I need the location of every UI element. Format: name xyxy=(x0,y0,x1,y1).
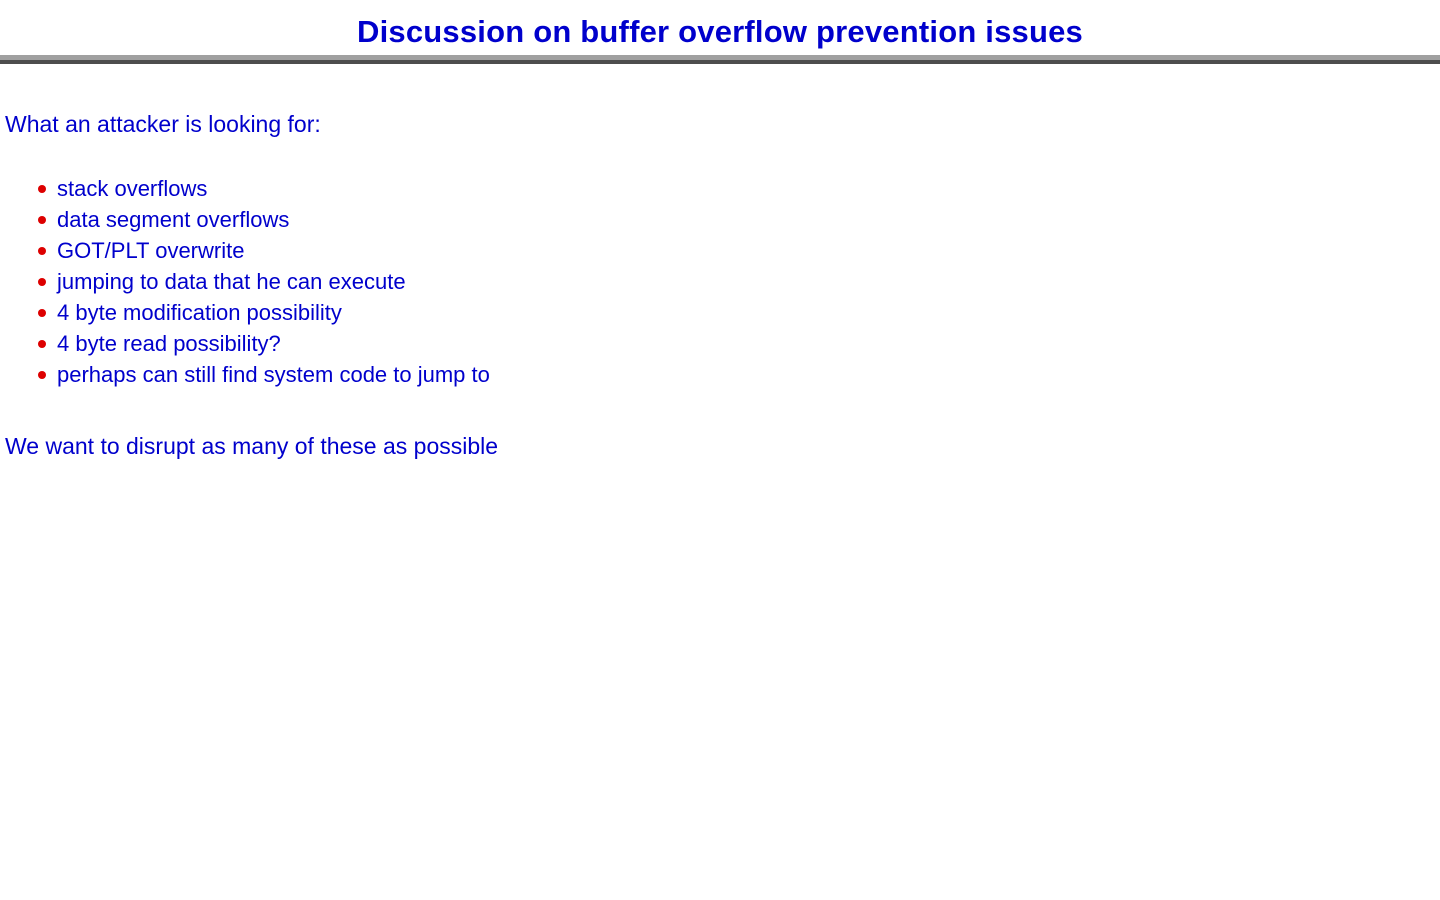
bullet-dot-icon xyxy=(38,309,46,317)
list-item-label: 4 byte read possibility? xyxy=(57,331,281,356)
list-item-label: data segment overflows xyxy=(57,207,289,232)
list-item-label: stack overflows xyxy=(57,176,207,201)
list-item: GOT/PLT overwrite xyxy=(0,235,490,266)
bullet-dot-icon xyxy=(38,278,46,286)
list-item-label: jumping to data that he can execute xyxy=(57,269,406,294)
title-divider xyxy=(0,55,1440,64)
bullet-dot-icon xyxy=(38,216,46,224)
bullet-dot-icon xyxy=(38,371,46,379)
closing-paragraph: We want to disrupt as many of these as p… xyxy=(5,432,498,460)
lead-paragraph: What an attacker is looking for: xyxy=(5,110,321,138)
list-item: jumping to data that he can execute xyxy=(0,266,490,297)
list-item-label: 4 byte modification possibility xyxy=(57,300,342,325)
attacker-goals-list: stack overflows data segment overflows G… xyxy=(0,173,490,390)
list-item-label: perhaps can still find system code to ju… xyxy=(57,362,490,387)
list-item: stack overflows xyxy=(0,173,490,204)
slide-title-bar: Discussion on buffer overflow prevention… xyxy=(0,14,1440,50)
list-item-label: GOT/PLT overwrite xyxy=(57,238,244,263)
page-title: Discussion on buffer overflow prevention… xyxy=(357,14,1083,50)
bullet-dot-icon xyxy=(38,340,46,348)
list-item: data segment overflows xyxy=(0,204,490,235)
bullet-dot-icon xyxy=(38,185,46,193)
list-item: perhaps can still find system code to ju… xyxy=(0,359,490,390)
bullet-dot-icon xyxy=(38,247,46,255)
slide-body: What an attacker is looking for: stack o… xyxy=(0,64,1440,900)
list-item: 4 byte modification possibility xyxy=(0,297,490,328)
slide: Discussion on buffer overflow prevention… xyxy=(0,0,1440,900)
list-item: 4 byte read possibility? xyxy=(0,328,490,359)
